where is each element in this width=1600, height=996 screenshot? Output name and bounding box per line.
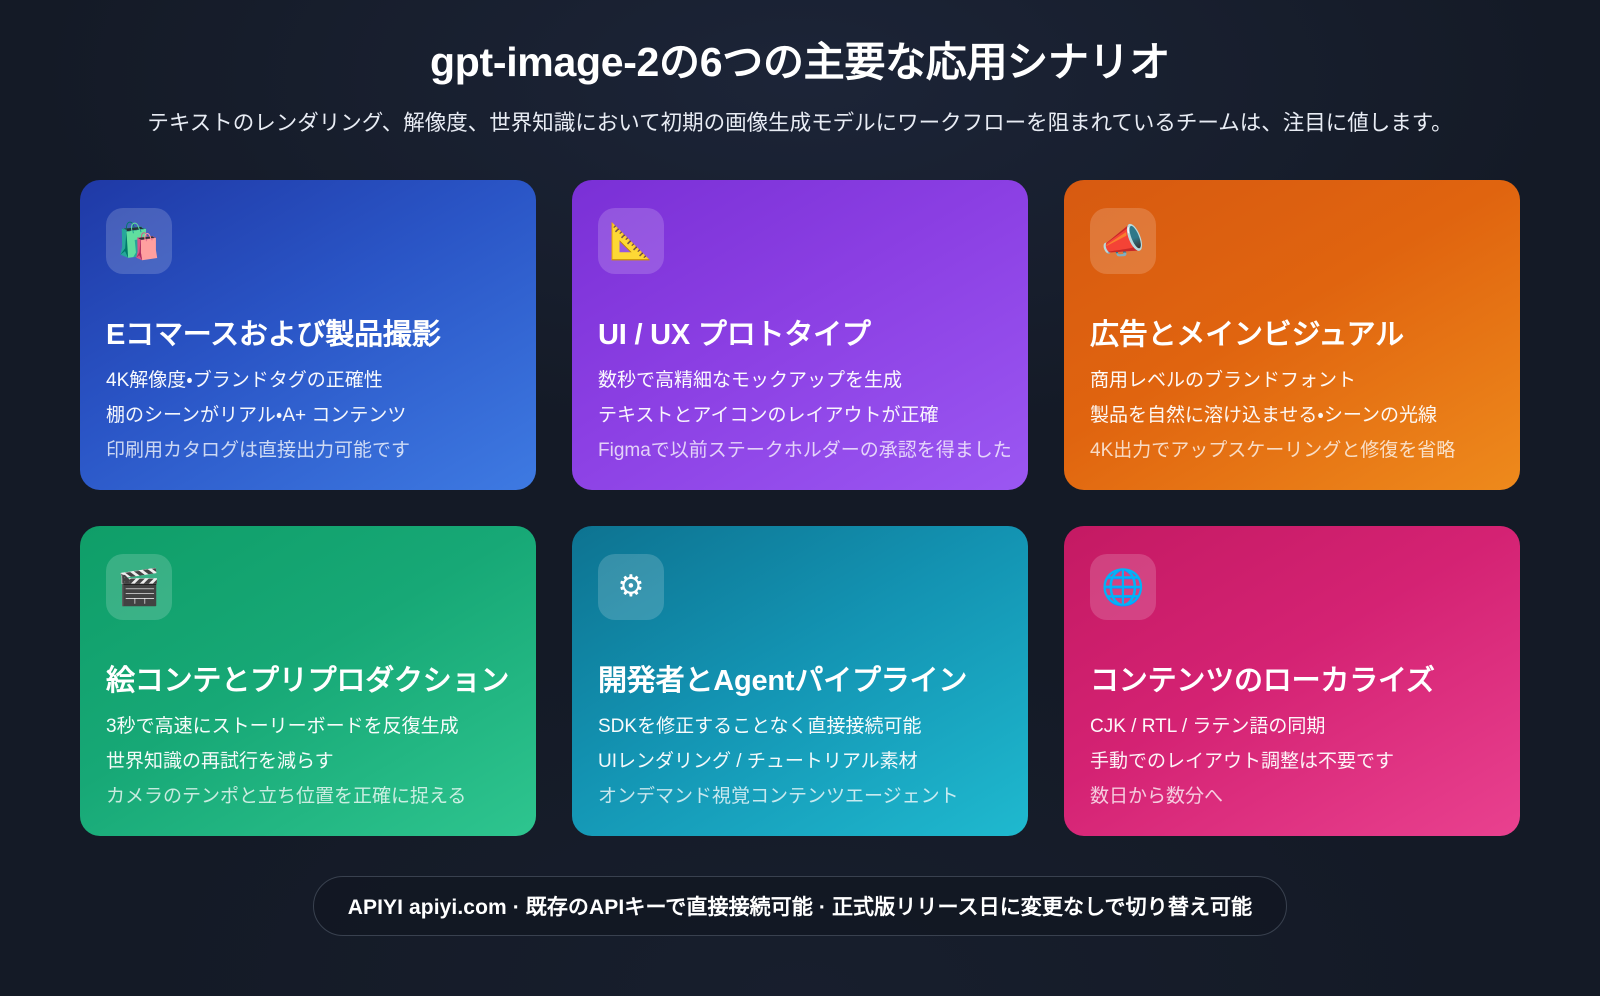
card-bullet: 印刷用カタログは直接出力可能です (106, 439, 510, 463)
card-title: 広告とメインビジュアル (1090, 318, 1494, 352)
card-bullet: カメラのテンポと立ち位置を正確に捉える (106, 785, 510, 809)
card-bullet: テキストとアイコンのレイアウトが正確 (598, 404, 1002, 428)
card-title: Eコマースおよび製品撮影 (106, 318, 510, 352)
footer: APIYI apiyi.com · 既存のAPIキーで直接接続可能 · 正式版リ… (0, 876, 1600, 936)
triangular-ruler-icon-glyph: 📐 (609, 224, 653, 259)
header: gpt-image-2の6つの主要な応用シナリオ テキストのレンダリング、解像度… (0, 0, 1600, 138)
card-bullets: SDKを修正することなく直接接続可能 UIレンダリング / チュートリアル素材 … (598, 715, 1002, 808)
page-subtitle: テキストのレンダリング、解像度、世界知識において初期の画像生成モデルにワークフロ… (0, 109, 1600, 138)
card-bullets: 商用レベルのブランドフォント 製品を自然に溶け込ませる・シーンの光線 4K出力で… (1090, 369, 1494, 462)
scenario-card-developer-agent[interactable]: ⚙ 開発者とAgentパイプライン SDKを修正することなく直接接続可能 UIレ… (572, 526, 1028, 836)
card-title: 開発者とAgentパイプライン (598, 664, 1002, 698)
megaphone-icon-glyph: 📣 (1101, 224, 1145, 259)
triangular-ruler-icon: 📐 (598, 208, 664, 274)
scenario-card-ui-ux[interactable]: 📐 UI / UX プロトタイプ 数秒で高精細なモックアップを生成 テキストとア… (572, 180, 1028, 490)
scenario-card-grid: 🛍️ Eコマースおよび製品撮影 4K解像度・ブランドタグの正確性 棚のシーンがリ… (80, 180, 1520, 836)
globe-icon: 🌐 (1090, 554, 1156, 620)
page-title: gpt-image-2の6つの主要な応用シナリオ (0, 38, 1600, 87)
card-bullets: 3秒で高速にストーリーボードを反復生成 世界知識の再試行を減らす カメラのテンポ… (106, 715, 510, 808)
page-root: gpt-image-2の6つの主要な応用シナリオ テキストのレンダリング、解像度… (0, 0, 1600, 996)
card-bullet: 数秒で高精細なモックアップを生成 (598, 369, 1002, 393)
card-bullet: UIレンダリング / チュートリアル素材 (598, 750, 1002, 774)
card-bullets: 数秒で高精細なモックアップを生成 テキストとアイコンのレイアウトが正確 Figm… (598, 369, 1002, 462)
card-bullet: 棚のシーンがリアル・A+ コンテンツ (106, 404, 510, 428)
megaphone-icon: 📣 (1090, 208, 1156, 274)
clapper-board-icon-glyph: 🎬 (117, 570, 161, 605)
card-bullets: 4K解像度・ブランドタグの正確性 棚のシーンがリアル・A+ コンテンツ 印刷用カ… (106, 369, 510, 462)
shopping-bags-icon: 🛍️ (106, 208, 172, 274)
card-bullet: 世界知識の再試行を減らす (106, 750, 510, 774)
globe-icon-glyph: 🌐 (1101, 570, 1145, 605)
scenario-card-advertising[interactable]: 📣 広告とメインビジュアル 商用レベルのブランドフォント 製品を自然に溶け込ませ… (1064, 180, 1520, 490)
card-bullet: オンデマンド視覚コンテンツエージェント (598, 785, 1002, 809)
card-bullet: Figmaで以前ステークホルダーの承認を得ました (598, 439, 1002, 463)
gear-icon-glyph: ⚙ (618, 572, 645, 602)
clapper-board-icon: 🎬 (106, 554, 172, 620)
card-bullet: 3秒で高速にストーリーボードを反復生成 (106, 715, 510, 739)
gear-icon: ⚙ (598, 554, 664, 620)
card-title: UI / UX プロトタイプ (598, 318, 1002, 352)
card-bullet: SDKを修正することなく直接接続可能 (598, 715, 1002, 739)
footer-badge[interactable]: APIYI apiyi.com · 既存のAPIキーで直接接続可能 · 正式版リ… (313, 876, 1288, 936)
scenario-card-storyboard[interactable]: 🎬 絵コンテとプリプロダクション 3秒で高速にストーリーボードを反復生成 世界知… (80, 526, 536, 836)
card-title: 絵コンテとプリプロダクション (106, 664, 510, 698)
shopping-bags-icon-glyph: 🛍️ (117, 224, 161, 259)
card-bullet: 4K出力でアップスケーリングと修復を省略 (1090, 439, 1494, 463)
card-bullet: 4K解像度・ブランドタグの正確性 (106, 369, 510, 393)
card-bullet: 数日から数分へ (1090, 785, 1494, 809)
card-title: コンテンツのローカライズ (1090, 664, 1494, 698)
card-bullet: CJK / RTL / ラテン語の同期 (1090, 715, 1494, 739)
card-bullet: 製品を自然に溶け込ませる・シーンの光線 (1090, 404, 1494, 428)
scenario-card-ecommerce[interactable]: 🛍️ Eコマースおよび製品撮影 4K解像度・ブランドタグの正確性 棚のシーンがリ… (80, 180, 536, 490)
card-bullets: CJK / RTL / ラテン語の同期 手動でのレイアウト調整は不要です 数日か… (1090, 715, 1494, 808)
card-bullet: 手動でのレイアウト調整は不要です (1090, 750, 1494, 774)
scenario-card-localization[interactable]: 🌐 コンテンツのローカライズ CJK / RTL / ラテン語の同期 手動でのレ… (1064, 526, 1520, 836)
card-bullet: 商用レベルのブランドフォント (1090, 369, 1494, 393)
